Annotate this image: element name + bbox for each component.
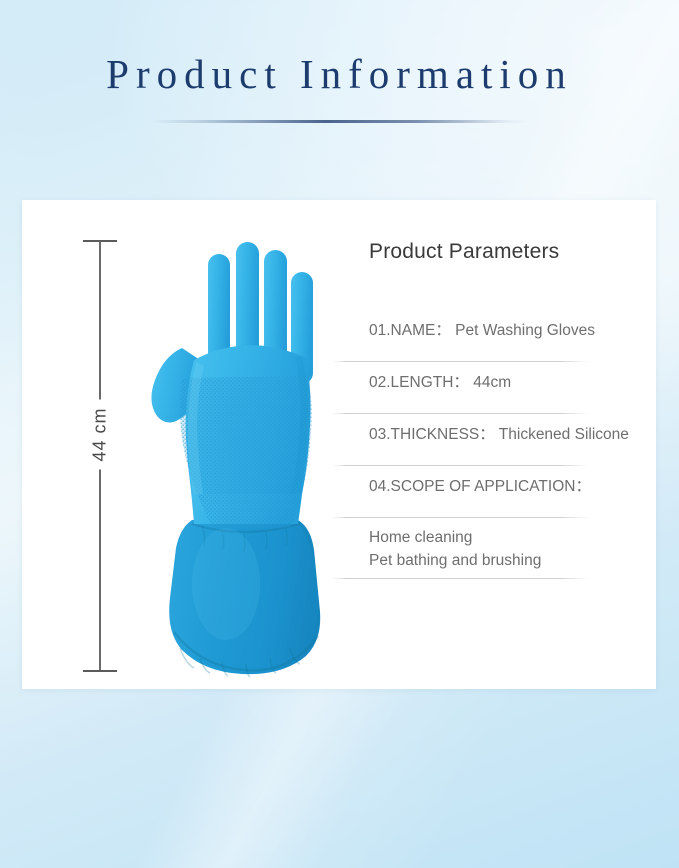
glove-illustration xyxy=(130,228,350,680)
parameter-thickness-text: 03.THICKNESS： Thickened Silicone xyxy=(369,414,637,446)
scope-line-pet-bathing: Pet bathing and brushing xyxy=(369,549,637,572)
product-card: 44 cm xyxy=(22,200,656,689)
parameter-row-name: 01.NAME： Pet Washing Gloves xyxy=(347,310,637,362)
dimension-label: 44 cm xyxy=(82,400,119,470)
product-information-page: Product Information 44 cm xyxy=(0,0,679,868)
parameter-scope-text: 04.SCOPE OF APPLICATION： xyxy=(369,466,637,498)
title-underline xyxy=(150,120,530,123)
dimension-indicator: 44 cm xyxy=(70,240,128,672)
parameter-row-thickness: 03.THICKNESS： Thickened Silicone xyxy=(347,414,637,466)
parameter-name-text: 01.NAME： Pet Washing Gloves xyxy=(369,310,637,342)
page-header: Product Information xyxy=(0,52,679,97)
parameters-heading: Product Parameters xyxy=(369,240,637,264)
parameter-row-length: 02.LENGTH： 44cm xyxy=(347,362,637,414)
page-title: Product Information xyxy=(0,52,679,97)
product-parameters-panel: Product Parameters 01.NAME： Pet Washing … xyxy=(347,240,637,579)
product-image-glove xyxy=(130,228,350,680)
parameter-row-scope: 04.SCOPE OF APPLICATION： xyxy=(347,466,637,518)
scope-line-home-cleaning: Home cleaning xyxy=(369,526,637,549)
parameter-row-scope-details: Home cleaning Pet bathing and brushing xyxy=(347,518,637,579)
parameter-length-text: 02.LENGTH： 44cm xyxy=(369,362,637,394)
dimension-cap-bottom xyxy=(83,670,117,672)
parameter-divider xyxy=(332,578,589,579)
glove-cuff xyxy=(169,520,320,677)
scope-lines: Home cleaning Pet bathing and brushing xyxy=(369,518,637,579)
